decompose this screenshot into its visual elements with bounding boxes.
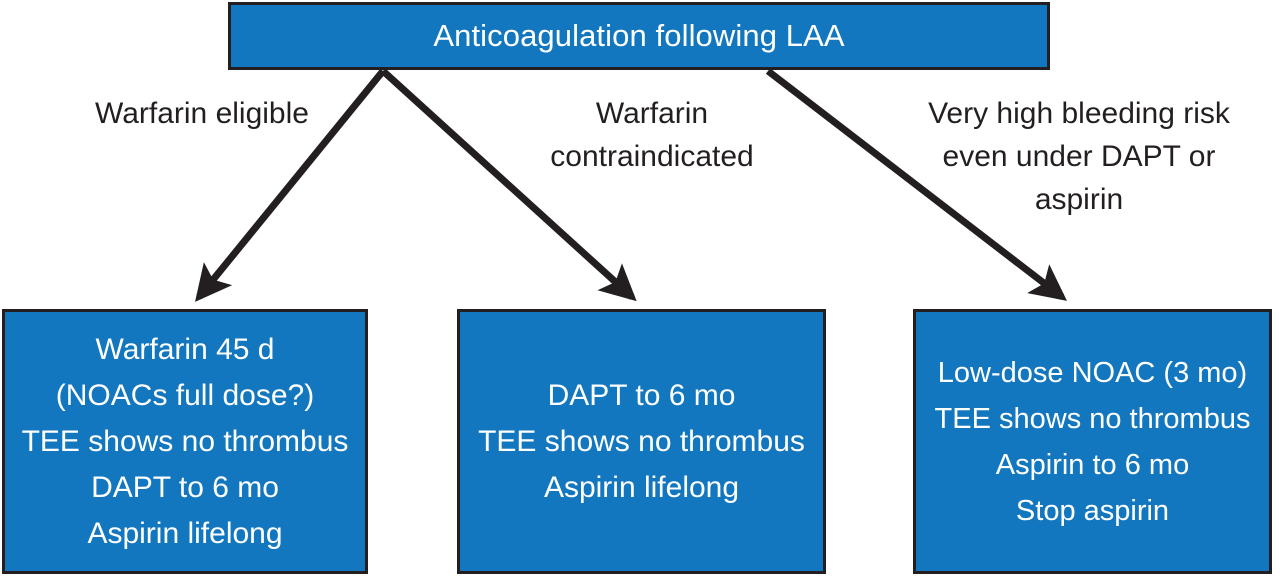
outcome-warfarin-contraindicated-line-2: TEE shows no thrombus	[466, 419, 817, 465]
outcome-node-warfarin-contraindicated: DAPT to 6 mo TEE shows no thrombus Aspir…	[457, 309, 826, 574]
outcome-warfarin-eligible-line-5: Aspirin lifelong	[11, 511, 359, 557]
outcome-very-high-bleeding-risk-line-2: TEE shows no thrombus	[922, 396, 1263, 442]
edge-label-warfarin-contraindicated-line-1: Warfarin	[492, 92, 812, 135]
outcome-warfarin-eligible-line-1: Warfarin 45 d	[11, 327, 359, 373]
outcome-very-high-bleeding-risk-line-4: Stop aspirin	[922, 488, 1263, 534]
outcome-warfarin-contraindicated-line-1: DAPT to 6 mo	[466, 373, 817, 419]
outcome-node-very-high-bleeding-risk-text: Low-dose NOAC (3 mo) TEE shows no thromb…	[916, 350, 1269, 534]
root-node-line-1: Anticoagulation following LAA	[237, 18, 1041, 54]
outcome-node-very-high-bleeding-risk: Low-dose NOAC (3 mo) TEE shows no thromb…	[913, 309, 1272, 574]
edge-label-warfarin-eligible: Warfarin eligible	[52, 92, 352, 135]
edge-label-warfarin-eligible-line-1: Warfarin eligible	[52, 92, 352, 135]
flowchart-canvas: Anticoagulation following LAA Warfarin e…	[0, 0, 1280, 578]
edge-label-very-high-bleeding-risk: Very high bleeding risk even under DAPT …	[884, 92, 1274, 221]
edge-label-warfarin-contraindicated: Warfarin contraindicated	[492, 92, 812, 178]
outcome-node-warfarin-eligible: Warfarin 45 d (NOACs full dose?) TEE sho…	[2, 309, 368, 574]
edge-label-very-high-bleeding-risk-line-3: aspirin	[884, 178, 1274, 221]
edge-label-very-high-bleeding-risk-line-2: even under DAPT or	[884, 135, 1274, 178]
outcome-node-warfarin-eligible-text: Warfarin 45 d (NOACs full dose?) TEE sho…	[5, 327, 365, 557]
outcome-very-high-bleeding-risk-line-3: Aspirin to 6 mo	[922, 442, 1263, 488]
edge-label-warfarin-contraindicated-line-2: contraindicated	[492, 135, 812, 178]
outcome-warfarin-eligible-line-3: TEE shows no thrombus	[11, 419, 359, 465]
outcome-warfarin-eligible-line-4: DAPT to 6 mo	[11, 465, 359, 511]
outcome-node-warfarin-contraindicated-text: DAPT to 6 mo TEE shows no thrombus Aspir…	[460, 373, 823, 511]
root-node-anticoagulation-following-laa: Anticoagulation following LAA	[228, 2, 1050, 70]
outcome-warfarin-contraindicated-line-3: Aspirin lifelong	[466, 465, 817, 511]
outcome-warfarin-eligible-line-2: (NOACs full dose?)	[11, 373, 359, 419]
edge-label-very-high-bleeding-risk-line-1: Very high bleeding risk	[884, 92, 1274, 135]
root-node-text: Anticoagulation following LAA	[231, 18, 1047, 54]
outcome-very-high-bleeding-risk-line-1: Low-dose NOAC (3 mo)	[922, 350, 1263, 396]
